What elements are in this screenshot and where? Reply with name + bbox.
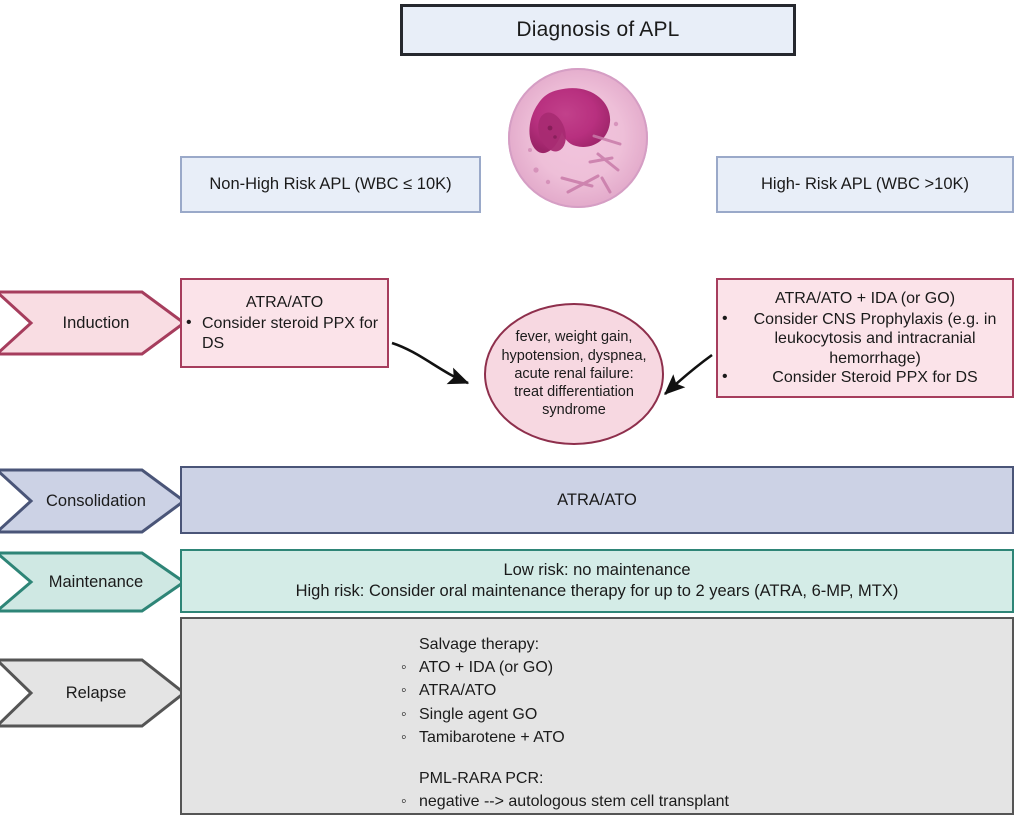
induction-right-bullets: Consider CNS Prophylaxis (e.g. in leukoc…	[718, 310, 1012, 387]
induction-right-title: ATRA/ATO + IDA (or GO)	[775, 289, 955, 308]
relapse-salvage-item-2: Single agent GO	[397, 703, 797, 726]
relapse-pcr-item-1: positive --> allogeneic stem cell transp…	[397, 813, 797, 817]
induction-left-bullet-0: Consider steroid PPX for DS	[182, 314, 387, 353]
stage-label-induction: Induction	[63, 314, 130, 333]
apl-promyelocyte-micrograph	[506, 66, 650, 210]
induction-left-bullet-0-text: Consider steroid PPX for DS	[202, 315, 378, 352]
relapse-salvage-item-3: Tamibarotene + ATO	[397, 726, 797, 749]
induction-right-bullet-1: Consider Steroid PPX for DS	[718, 368, 1012, 387]
maintenance-line-1: Low risk: no maintenance	[503, 560, 690, 581]
differentiation-syndrome-text: fever, weight gain, hypotension, dyspnea…	[500, 328, 648, 419]
stage-chevron-maintenance: Maintenance	[0, 551, 182, 613]
stage-chevron-induction: Induction	[0, 290, 182, 356]
relapse-salvage-item-1: ATRA/ATO	[397, 679, 797, 702]
induction-right-bullet-0: Consider CNS Prophylaxis (e.g. in leukoc…	[718, 310, 1012, 368]
diagnosis-title-text: Diagnosis of APL	[516, 18, 679, 42]
stage-chevron-consolidation: Consolidation	[0, 468, 182, 534]
relapse-spacer	[397, 749, 797, 767]
maintenance-box: Low risk: no maintenance High risk: Cons…	[180, 549, 1014, 613]
induction-left-title: ATRA/ATO	[246, 293, 323, 313]
relapse-pcr-heading: PML-RARA PCR:	[397, 767, 797, 790]
induction-right-bullet-1-text: Consider Steroid PPX for DS	[772, 369, 977, 386]
maintenance-line-2: High risk: Consider oral maintenance the…	[296, 581, 899, 602]
stage-label-consolidation: Consolidation	[46, 492, 146, 511]
relapse-salvage-list: ATO + IDA (or GO) ATRA/ATO Single agent …	[397, 656, 797, 749]
apl-treatment-flowchart: Diagnosis of APL	[0, 0, 1024, 817]
relapse-content: Salvage therapy: ATO + IDA (or GO) ATRA/…	[397, 633, 797, 817]
arrow-induction-left-to-circle	[392, 343, 468, 383]
induction-non-high-risk-box: ATRA/ATO Consider steroid PPX for DS	[180, 278, 389, 368]
induction-high-risk-box: ATRA/ATO + IDA (or GO) Consider CNS Prop…	[716, 278, 1014, 398]
induction-left-bullets: Consider steroid PPX for DS	[182, 314, 387, 353]
risk-box-high: High- Risk APL (WBC >10K)	[716, 156, 1014, 213]
stage-label-relapse: Relapse	[66, 684, 127, 703]
stage-label-maintenance: Maintenance	[49, 573, 143, 592]
relapse-pcr-list: negative --> autologous stem cell transp…	[397, 790, 797, 817]
differentiation-syndrome-circle: fever, weight gain, hypotension, dyspnea…	[484, 303, 664, 445]
diagnosis-title-box: Diagnosis of APL	[400, 4, 796, 56]
relapse-salvage-heading: Salvage therapy:	[397, 633, 797, 656]
relapse-pcr-item-0: negative --> autologous stem cell transp…	[397, 790, 797, 813]
risk-box-non-high: Non-High Risk APL (WBC ≤ 10K)	[180, 156, 481, 213]
risk-low-label: Non-High Risk APL (WBC ≤ 10K)	[209, 175, 451, 194]
relapse-salvage-item-0: ATO + IDA (or GO)	[397, 656, 797, 679]
induction-right-bullet-0-text: Consider CNS Prophylaxis (e.g. in leukoc…	[754, 311, 997, 366]
risk-high-label: High- Risk APL (WBC >10K)	[761, 175, 969, 194]
consolidation-text: ATRA/ATO	[557, 491, 637, 510]
consolidation-box: ATRA/ATO	[180, 466, 1014, 534]
stage-chevron-relapse: Relapse	[0, 658, 182, 728]
relapse-box: Salvage therapy: ATO + IDA (or GO) ATRA/…	[180, 617, 1014, 815]
arrow-induction-right-to-circle	[665, 355, 712, 394]
